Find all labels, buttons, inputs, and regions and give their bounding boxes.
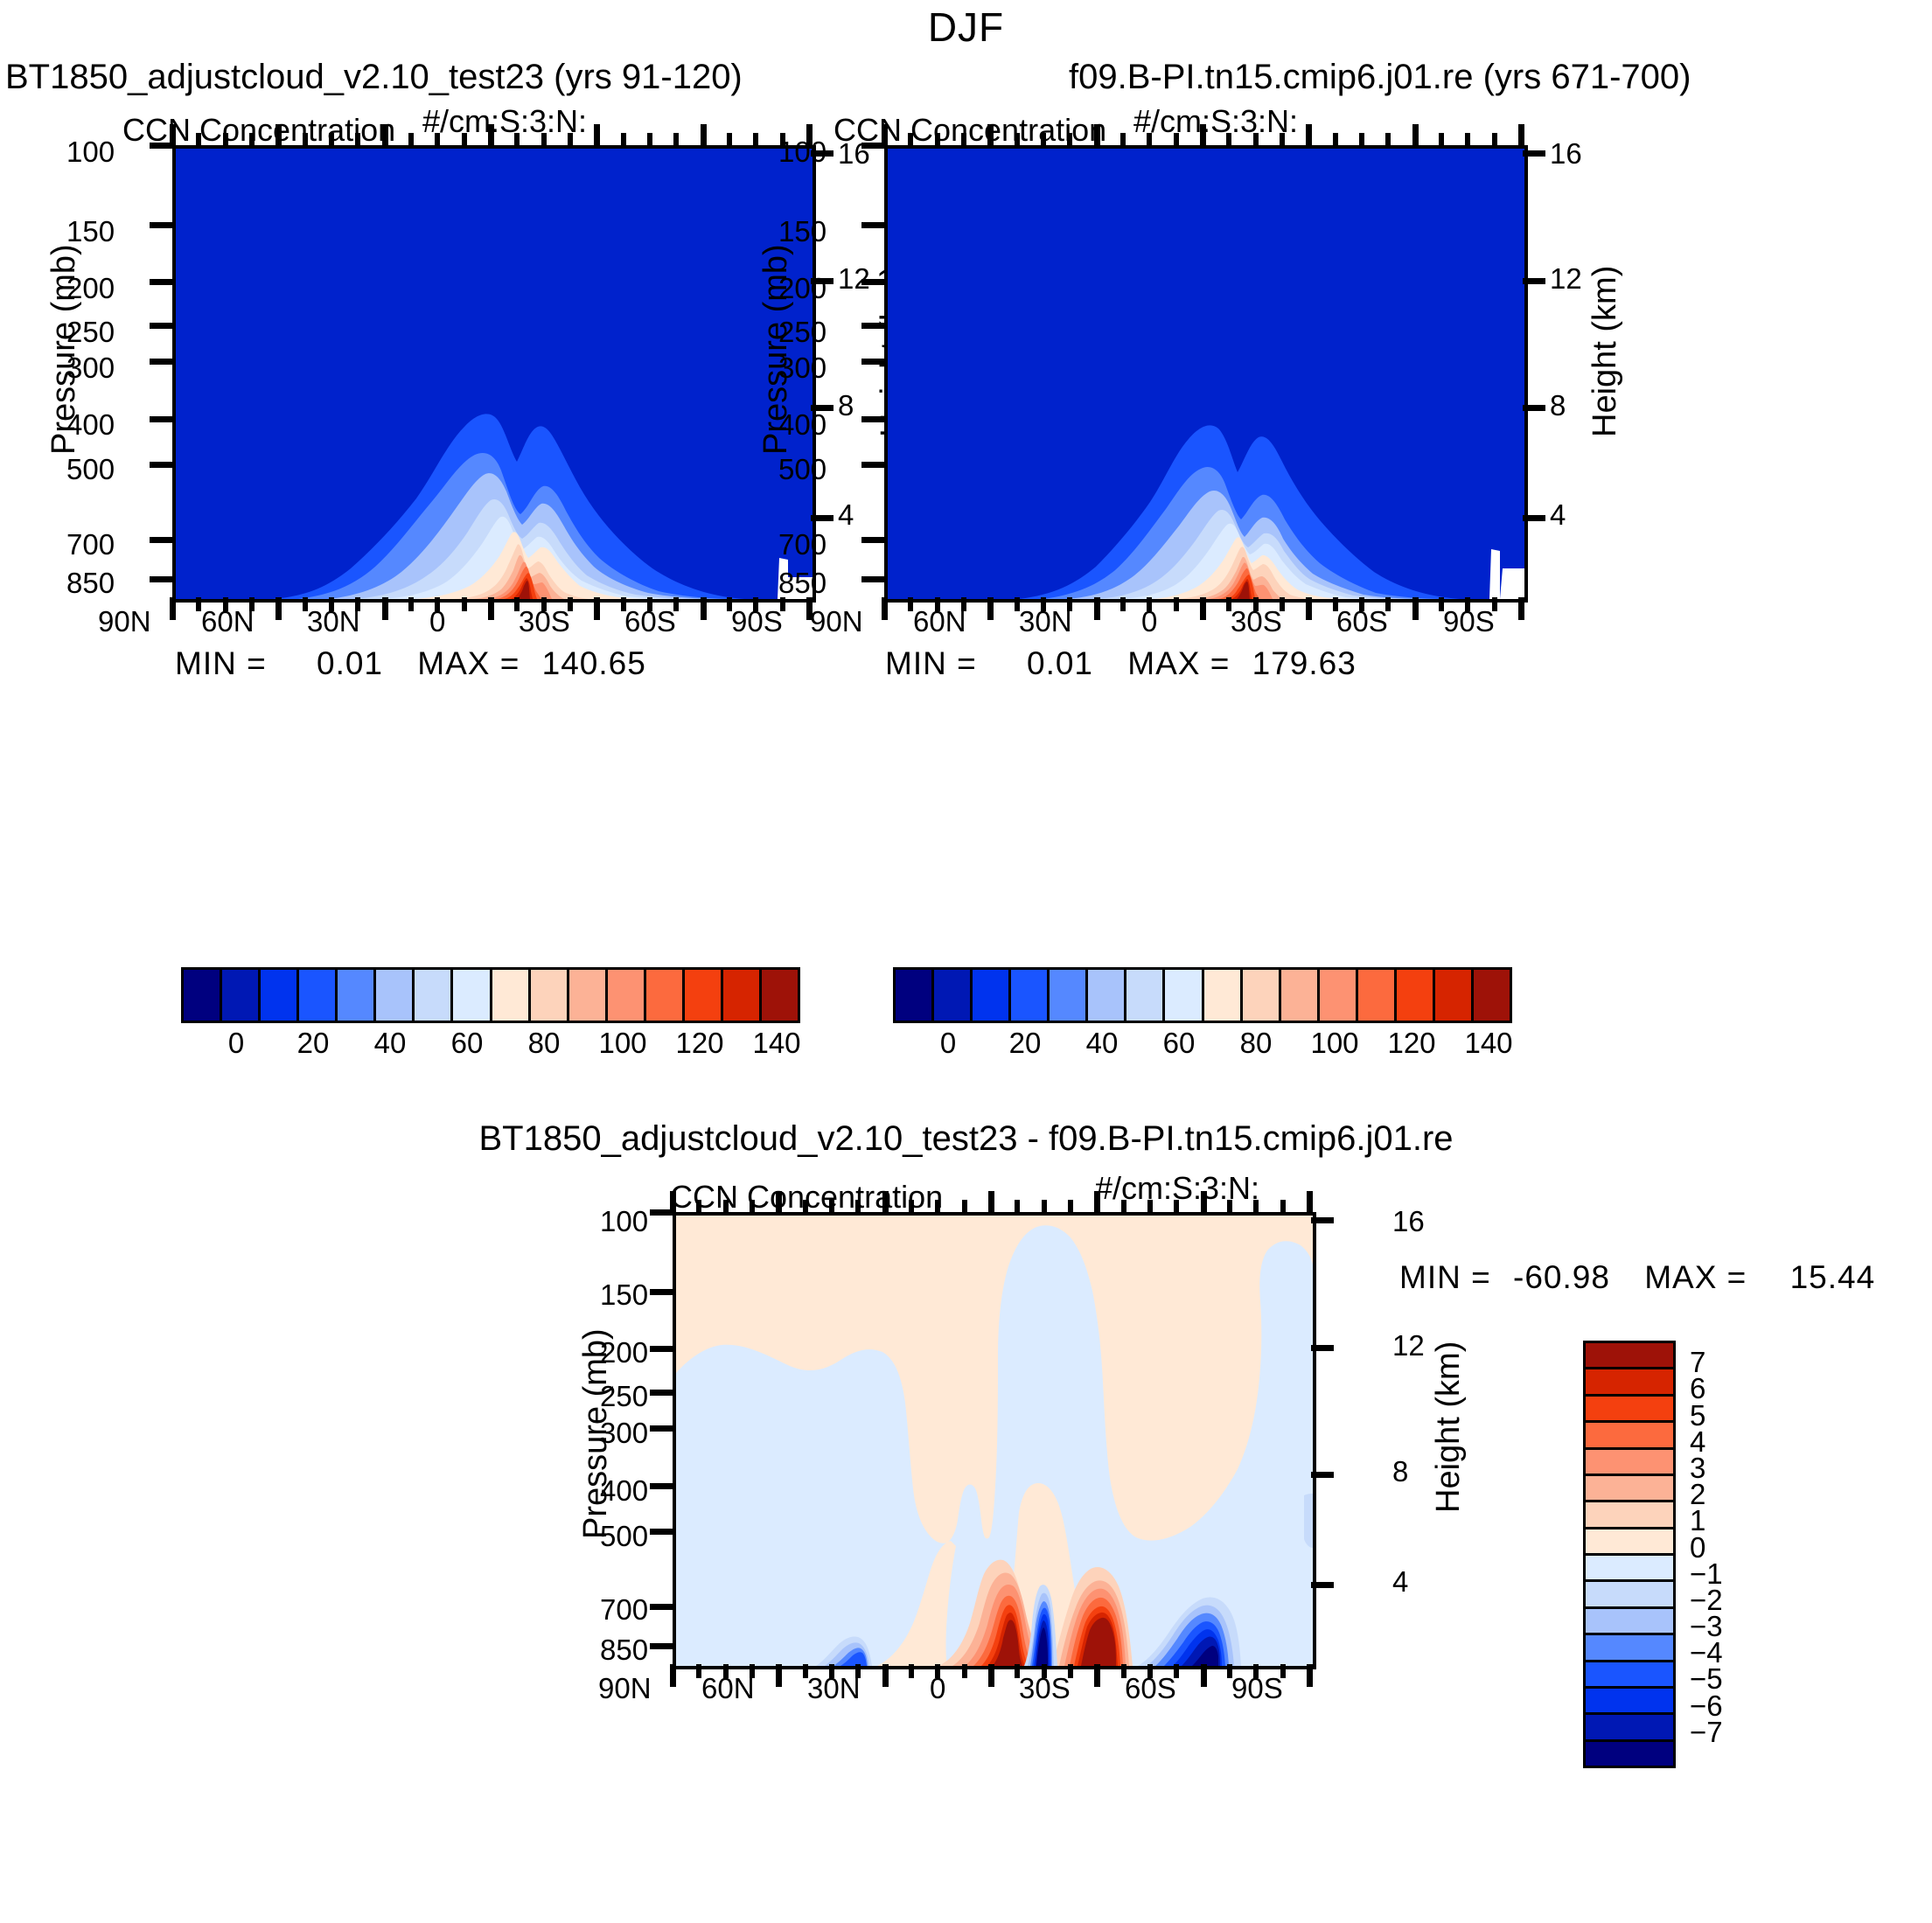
axis-tick [650,1289,674,1295]
colorbar-swatch [1586,1529,1673,1556]
axis-tick [780,597,785,611]
axis-tick [1174,597,1179,611]
axis-tick [150,359,174,365]
axis-tick [150,279,174,285]
axis-tick [1041,133,1046,147]
axis-tick [650,1346,674,1352]
axis-tick [1094,124,1100,147]
ytick-label: 300 [600,1417,648,1450]
axis-tick [1094,1664,1100,1687]
axis-tick [594,597,600,620]
axis-tick [1015,133,1020,147]
y2tick-label: 16 [1392,1205,1425,1238]
max-value: 179.63 [1252,645,1357,681]
axis-tick [753,597,758,611]
axis-tick [935,1200,940,1214]
colorbar-swatch [1204,970,1243,1021]
axis-tick [1412,124,1419,147]
axis-tick [1015,597,1020,611]
contour-fill-diff [676,1216,1313,1666]
axis-tick [1121,1200,1126,1214]
axis-tick [1306,124,1312,147]
axis-tick [1311,1217,1334,1223]
cbar-label: 140 [745,1027,808,1060]
axis-tick [1201,1664,1207,1687]
colorbar-swatch [608,970,646,1021]
axis-tick [803,1664,808,1678]
axis-tick [1439,133,1444,147]
axis-tick [276,124,282,147]
xtick-label: 90N [810,605,863,638]
axis-tick [249,597,255,611]
axis-tick [1280,1200,1286,1214]
axis-tick [861,279,886,285]
axis-tick [1518,124,1524,147]
axis-tick [811,150,833,157]
axis-tick [382,597,388,620]
axis-tick [1041,597,1046,611]
ytick-label: 250 [66,316,115,349]
axis-tick [1492,597,1497,611]
cbar-label: 0 [210,1027,262,1060]
axis-tick [276,597,282,620]
axis-tick [1067,597,1072,611]
colorbar-swatch [531,970,569,1021]
axis-tick [1253,133,1259,147]
axis-tick [1492,133,1497,147]
axis-tick [303,133,308,147]
axis-tick [723,1664,729,1678]
cbar-label: 100 [591,1027,654,1060]
axis-tick [488,124,494,147]
ytick-label: 300 [66,352,115,385]
cbar-label: 60 [441,1027,493,1060]
axis-tick [1412,597,1419,620]
colorbar-diff[interactable] [1583,1341,1676,1768]
axis-tick [861,323,886,329]
axis-tick [1147,1664,1153,1678]
axis-tick [1200,597,1206,620]
axis-tick [961,597,966,611]
axis-tick [909,1200,914,1214]
axis-tick [882,1664,889,1687]
minmax-diff: MIN = -60.98 MAX = 15.44 [1399,1259,1875,1296]
cbar-label: 20 [999,1027,1051,1060]
cbar-label: 20 [287,1027,339,1060]
min-value: 0.01 [1027,645,1093,681]
axis-tick [650,1425,674,1432]
axis-tick [150,222,174,228]
axis-tick [382,124,388,147]
colorbar-swatch [646,970,685,1021]
axis-tick [568,133,573,147]
axis-tick [650,1483,674,1489]
ytick-label: 100 [600,1205,648,1238]
ytick-label: 400 [778,408,827,442]
cbar-label: 40 [1076,1027,1128,1060]
axis-tick [1311,1472,1334,1478]
axis-tick [329,597,334,611]
colorbar-swatch [1586,1635,1673,1662]
colorbar-swatch [376,970,415,1021]
axis-tick [909,1664,914,1678]
cbar-label: 120 [668,1027,731,1060]
axis-tick [1226,133,1231,147]
axis-tick [1311,1582,1334,1588]
cbar-label: 100 [1303,1027,1366,1060]
min-label: MIN = [1399,1259,1491,1295]
axis-tick [935,1664,940,1678]
ytick-label: 400 [66,408,115,442]
ytick-label: 300 [778,352,827,385]
axis-tick [987,597,994,620]
axis-tick [935,597,940,611]
axis-tick [1174,1664,1179,1678]
max-label: MAX = [1644,1259,1747,1295]
axis-tick [223,133,228,147]
colorbar-swatch [896,970,934,1021]
axis-tick [673,133,679,147]
axis-tick [1280,1664,1286,1678]
colorbar-swatch [1586,1689,1673,1715]
axis-tick [829,1664,834,1678]
colorbar-swatch [1586,1343,1673,1369]
cbar-label: 80 [518,1027,570,1060]
y2tick-label: 8 [1392,1455,1408,1488]
axis-tick [355,597,360,611]
axis-tick [1465,133,1470,147]
axis-tick [1227,1200,1232,1214]
ytick-label: 400 [600,1474,648,1508]
colorbar-swatch [934,970,973,1021]
axis-tick [829,1200,834,1214]
max-value: 15.44 [1790,1259,1876,1295]
axis-tick [855,1200,861,1214]
colorbar-swatch [261,970,299,1021]
colorbar-diff-label: −7 [1690,1716,1795,1749]
colorbar-swatch [723,970,762,1021]
axis-tick [462,597,467,611]
axis-tick [1121,1664,1126,1678]
ytick-label: 500 [66,453,115,486]
colorbar-swatch [1586,1450,1673,1476]
contour-fill-top-right [888,149,1524,599]
axis-tick [594,124,600,147]
axis-tick [1094,1191,1100,1214]
colorbar-swatch [1165,970,1203,1021]
max-label: MAX = [1127,645,1230,681]
axis-tick [1523,405,1545,411]
axis-tick [1120,133,1126,147]
axis-tick [988,1664,994,1687]
axis-tick [647,133,652,147]
plot-area-top-left[interactable] [172,145,816,603]
axis-tick [908,597,913,611]
ytick-label: 850 [778,567,827,600]
axis-tick [196,597,201,611]
axis-tick [811,405,833,411]
units-top-right: #/cm:S:3:N: [1133,103,1298,140]
y2tick-label: 4 [1392,1565,1408,1599]
axis-tick [488,597,494,620]
cbar-label: 140 [1457,1027,1520,1060]
cbar-label: 120 [1380,1027,1443,1060]
axis-tick [170,597,176,620]
ytick-label: 850 [600,1634,648,1667]
axis-tick [170,124,176,147]
axis-tick [1306,597,1312,620]
axis-tick [1385,133,1391,147]
xtick-label: 90N [598,1672,652,1705]
plot-area-top-right[interactable] [884,145,1528,603]
axis-tick [514,133,520,147]
axis-tick [1068,1200,1073,1214]
axis-tick [650,1529,674,1535]
axis-tick [908,133,913,147]
axis-tick [1307,1664,1313,1687]
minmax-top-left: MIN = 0.01 MAX = 140.65 [175,645,646,682]
colorbar-swatch [1011,970,1050,1021]
axis-tick [196,133,201,147]
axis-tick [462,133,467,147]
colorbar-swatch [1358,970,1397,1021]
axis-tick [1015,1664,1020,1678]
axis-tick [1439,597,1444,611]
plot-area-diff[interactable] [673,1212,1316,1669]
axis-tick [962,1664,967,1678]
axis-tick [803,1200,808,1214]
contour-fill-top-left [176,149,813,599]
axis-tick [1253,1664,1259,1678]
ytick-label: 150 [600,1279,648,1312]
axis-tick [987,124,994,147]
max-label: MAX = [417,645,520,681]
axis-tick [861,359,886,365]
colorbar-swatch [569,970,608,1021]
colorbar-swatch [685,970,723,1021]
units-top-left: #/cm:S:3:N: [422,103,587,140]
colorbar-swatch [1586,1556,1673,1582]
axis-tick [1253,597,1259,611]
axis-tick [861,416,886,422]
colorbar-swatch [1586,1742,1673,1766]
colorbar-swatch [1126,970,1165,1021]
ytick-label: 200 [778,272,827,305]
colorbar-swatch [1435,970,1474,1021]
colorbar-top-right[interactable] [893,967,1512,1023]
axis-tick [750,1664,755,1678]
colorbar-swatch [1320,970,1358,1021]
axis-tick [811,515,833,521]
axis-tick [855,1664,861,1678]
axis-tick [1201,1191,1207,1214]
axis-tick [1120,597,1126,611]
ytick-label: 850 [66,567,115,600]
axis-tick [1359,133,1364,147]
axis-tick [673,597,679,611]
axis-tick [861,537,886,543]
axis-tick [1147,597,1152,611]
axis-tick [750,1200,755,1214]
axis-tick [514,597,520,611]
axis-tick [1147,133,1152,147]
axis-tick [1042,1200,1047,1214]
axis-tick [727,133,732,147]
min-label: MIN = [175,645,267,681]
axis-tick [723,1200,729,1214]
axis-tick [1385,597,1391,611]
axis-tick [962,1200,967,1214]
y2tick-label: 4 [838,498,854,532]
axis-tick [1523,150,1545,157]
colorbar-swatch [1586,1582,1673,1608]
axis-tick [1253,1200,1259,1214]
cbar-label: 60 [1153,1027,1205,1060]
ytick-label: 700 [66,528,115,561]
axis-tick [806,597,813,620]
colorbar-swatch [1586,1662,1673,1689]
axis-tick [670,1191,676,1214]
axis-tick [727,597,732,611]
axis-tick [1333,133,1338,147]
colorbar-swatch [453,970,492,1021]
axis-tick [1094,597,1100,620]
ytick-label: 500 [778,453,827,486]
colorbar-swatch [1586,1476,1673,1502]
axis-tick [776,1191,782,1214]
axis-tick [1174,1200,1179,1214]
colorbar-swatch [1397,970,1435,1021]
cbar-label: 0 [922,1027,974,1060]
axis-tick [568,597,573,611]
axis-tick [223,597,228,611]
axis-tick [303,597,308,611]
colorbar-swatch [222,970,261,1021]
axis-tick [861,222,886,228]
axis-tick [882,597,888,620]
axis-tick [435,133,440,147]
axis-tick [988,1191,994,1214]
ytick-label: 200 [600,1336,648,1369]
axis-tick [861,576,886,582]
y2tick-label: 8 [1550,389,1566,422]
ytick-label: 200 [66,272,115,305]
axis-tick [1067,133,1072,147]
axis-tick [701,597,707,620]
axis-tick [670,1664,676,1687]
colorbar-swatch [1586,1502,1673,1529]
panel-title-top-left: BT1850_adjustcloud_v2.10_test23 (yrs 91-… [5,58,743,97]
axis-tick [1311,1345,1334,1351]
axis-tick [1068,1664,1073,1678]
cbar-label: 40 [364,1027,416,1060]
axis-tick [1523,515,1545,521]
ytick-label: 150 [778,215,827,248]
axis-tick [408,597,414,611]
axis-tick [1359,597,1364,611]
axis-tick [435,597,440,611]
axis-tick [882,124,888,147]
axis-tick [1174,133,1179,147]
axis-tick [621,133,626,147]
colorbar-swatch [1281,970,1320,1021]
axis-tick [650,1643,674,1649]
ytick-label: 500 [600,1520,648,1553]
axis-tick [1200,124,1206,147]
axis-tick [1042,1664,1047,1678]
axis-tick [150,537,174,543]
axis-tick [753,133,758,147]
height-axis-title-diff: Height (km) [1430,1341,1468,1513]
colorbar-swatch [415,970,453,1021]
axis-tick [150,416,174,422]
axis-tick [150,323,174,329]
colorbar-swatch [1088,970,1126,1021]
panel-title-diff: BT1850_adjustcloud_v2.10_test23 - f09.B-… [0,1119,1932,1159]
ytick-label: 100 [66,136,115,169]
colorbar-swatch [1474,970,1510,1021]
panel-title-top-right: f09.B-PI.tn15.cmip6.j01.re (yrs 671-700) [1069,58,1691,97]
min-value: 0.01 [317,645,383,681]
colorbar-top-left[interactable] [181,967,800,1023]
xtick-label: 90N [98,605,151,638]
max-value: 140.65 [542,645,646,681]
axis-tick [150,462,174,468]
axis-tick [355,133,360,147]
ytick-label: 250 [778,316,827,349]
axis-tick [1227,1664,1232,1678]
axis-tick [696,1664,701,1678]
axis-tick [961,133,966,147]
axis-tick [882,1191,889,1214]
axis-tick [861,462,886,468]
y2tick-label: 12 [1550,262,1582,296]
axis-tick [650,1390,674,1396]
axis-tick [935,133,940,147]
colorbar-swatch [338,970,376,1021]
ytick-label: 150 [66,215,115,248]
axis-tick [1280,597,1285,611]
y2tick-label: 16 [1550,137,1582,171]
colorbar-swatch [492,970,531,1021]
height-axis-title-top-right: Height (km) [1587,266,1624,437]
axis-tick [150,576,174,582]
axis-tick [1518,597,1524,620]
axis-tick [1280,133,1285,147]
min-value: -60.98 [1513,1259,1610,1295]
cbar-label: 80 [1230,1027,1282,1060]
ytick-label: 250 [600,1380,648,1413]
axis-tick [701,124,707,147]
min-label: MIN = [885,645,977,681]
axis-tick [541,133,547,147]
season-title: DJF [0,3,1932,51]
axis-tick [1333,597,1338,611]
colorbar-swatch [1586,1715,1673,1741]
ytick-label: 700 [600,1593,648,1627]
ytick-label: 700 [778,528,827,561]
axis-tick [621,597,626,611]
axis-tick [1226,597,1231,611]
axis-tick [650,1604,674,1610]
colorbar-swatch [299,970,338,1021]
axis-tick [780,133,785,147]
axis-tick [249,133,255,147]
colorbar-swatch [973,970,1011,1021]
axis-tick [776,1664,782,1687]
axis-tick [811,278,833,284]
axis-tick [408,133,414,147]
